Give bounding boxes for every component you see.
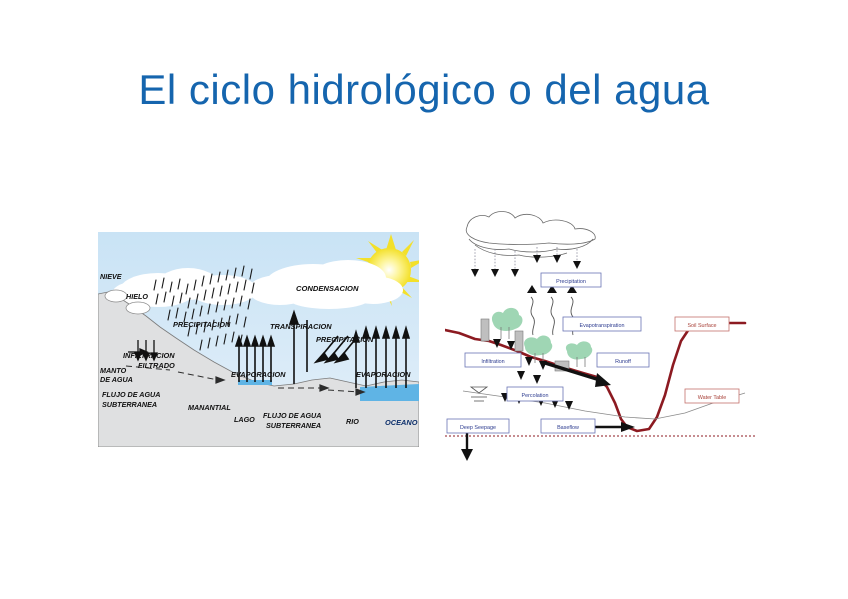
label-de-agua: DE AGUA xyxy=(100,375,133,384)
label-box-evapotranspiration[interactable]: Evapotranspiration xyxy=(563,317,641,331)
baseflow-arrow xyxy=(593,422,635,432)
label-filtrado: FILTRADO xyxy=(138,361,175,370)
label-nieve: NIEVE xyxy=(100,272,122,281)
label-evapotranspiration: Evapotranspiration xyxy=(580,323,625,329)
label-lago: LAGO xyxy=(234,415,255,424)
label-precipitacion-right: PRECIPITACION xyxy=(316,335,374,344)
left-water-cycle-illustration: NIEVE HIELO PRECIPITACION CONDENSACION I… xyxy=(98,232,419,447)
label-infiltracion: INFILTRACION xyxy=(123,351,175,360)
label-subterranea-1: SUBTERRANEA xyxy=(102,400,157,409)
label-evaporacion-right: EVAPORACION xyxy=(356,370,411,379)
label-rio: RIO xyxy=(346,417,359,426)
label-precipitacion-left: PRECIPITACION xyxy=(173,320,231,329)
label-manantial: MANANTIAL xyxy=(188,403,231,412)
label-box-precipitation[interactable]: Precipitation xyxy=(541,273,601,287)
label-subterranea-2: SUBTERRANEA xyxy=(266,421,321,430)
label-transpiracion: TRANSPIRACION xyxy=(270,322,332,331)
label-box-infiltration[interactable]: Infiltration xyxy=(465,353,521,367)
label-precipitation: Precipitation xyxy=(556,279,586,285)
deep-seepage-arrow xyxy=(461,433,473,461)
right-hydrologic-process-diagram: Precipitation Evapotranspiration Soil Su… xyxy=(445,205,755,470)
label-manto: MANTO xyxy=(100,366,127,375)
page-title: El ciclo hidrológico o del agua xyxy=(0,66,848,114)
label-soil-surface: Soil Surface xyxy=(687,323,716,329)
label-runoff: Runoff xyxy=(615,359,631,365)
label-box-percolation[interactable]: Percolation xyxy=(507,387,563,401)
label-hielo: HIELO xyxy=(126,292,148,301)
label-flujo-agua-2: FLUJO DE AGUA xyxy=(263,411,321,420)
label-box-deep-seepage[interactable]: Deep Seepage xyxy=(447,419,509,433)
label-box-water-table[interactable]: Water Table xyxy=(685,389,739,403)
label-flujo-agua-1: FLUJO DE AGUA xyxy=(102,390,160,399)
label-water-table: Water Table xyxy=(698,395,726,401)
label-box-runoff[interactable]: Runoff xyxy=(597,353,649,367)
label-evaporacion-left: EVAPORACION xyxy=(231,370,286,379)
label-box-soil-surface[interactable]: Soil Surface xyxy=(675,317,729,331)
label-deep-seepage: Deep Seepage xyxy=(460,425,496,431)
slide-canvas: El ciclo hidrológico o del agua xyxy=(0,0,848,599)
label-condensacion: CONDENSACION xyxy=(296,284,359,293)
label-box-baseflow[interactable]: Baseflow xyxy=(541,419,595,433)
label-percolation: Percolation xyxy=(522,393,549,399)
label-baseflow: Baseflow xyxy=(557,425,579,431)
label-oceano: OCEANO xyxy=(385,418,418,427)
label-infiltration: Infiltration xyxy=(481,359,504,365)
cloud-outline-icon xyxy=(466,211,595,257)
